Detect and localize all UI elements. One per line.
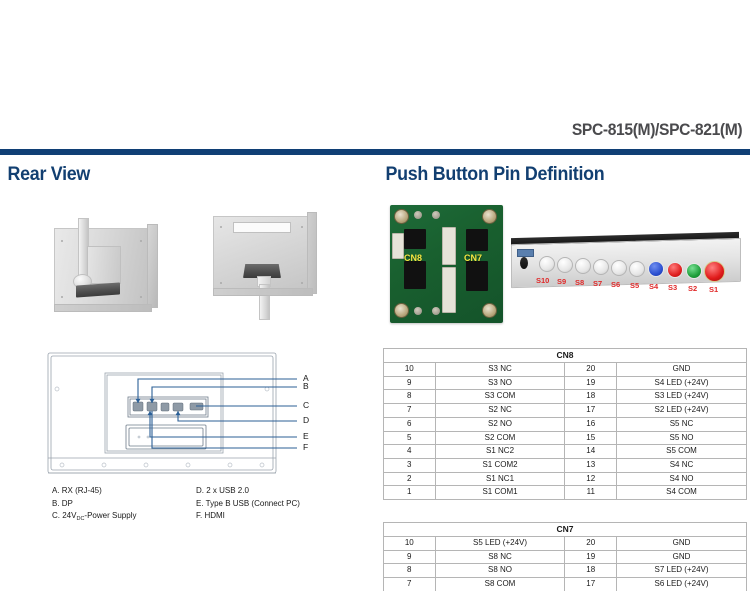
table-header-row: CN8 [384, 349, 747, 363]
pin-signal: S3 LED (+24V) [617, 390, 747, 404]
pin-signal: S5 NC [617, 417, 747, 431]
pin-signal: S6 LED (+24V) [617, 578, 747, 591]
rear-view-photo-1 [48, 218, 166, 320]
pin-signal: GND [617, 363, 747, 377]
pin-number: 14 [565, 445, 617, 459]
push-button-s9 [557, 257, 573, 273]
pin-number: 2 [384, 472, 436, 486]
legend-column-right: D. 2 x USB 2.0 E. Type B USB (Connect PC… [196, 485, 300, 523]
pin-table-cn7-body: 10 S5 LED (+24V) 20 GND 9 S8 NC 19 GND 8… [384, 537, 747, 591]
table-row: 4 S1 NC2 14 S5 COM [384, 445, 747, 459]
legend-item-e: E. Type B USB (Connect PC) [196, 498, 300, 511]
push-button-label-s3: S3 [668, 283, 677, 292]
pin-number: 18 [565, 564, 617, 578]
table-row: 8 S8 NO 18 S7 LED (+24V) [384, 564, 747, 578]
pin-number: 9 [384, 550, 436, 564]
pin-signal: S3 COM [435, 390, 565, 404]
pin-signal: S1 COM1 [435, 486, 565, 500]
table-row: 6 S2 NO 16 S5 NC [384, 417, 747, 431]
pin-signal: S4 LED (+24V) [617, 376, 747, 390]
pin-signal: S2 NC [435, 404, 565, 418]
callout-label-c: C [303, 400, 309, 410]
pin-signal: GND [617, 550, 747, 564]
pin-signal: S7 LED (+24V) [617, 564, 747, 578]
pin-number: 7 [384, 578, 436, 591]
pin-signal: S2 LED (+24V) [617, 404, 747, 418]
pcb-photo: CN8 CN7 [383, 200, 513, 330]
callout-label-d: D [303, 415, 309, 425]
table-row: 8 S3 COM 18 S3 LED (+24V) [384, 390, 747, 404]
push-button-s3 [667, 262, 683, 278]
push-button-s1 [704, 261, 725, 282]
table-row: 10 S5 LED (+24V) 20 GND [384, 537, 747, 551]
legend-item-c-sub: DC [76, 516, 84, 522]
push-button-bar-photo: S10 S9 S8 S7 S6 S5 S4 S3 S2 S1 [503, 233, 748, 313]
callout-label-b: B [303, 381, 309, 391]
pin-number: 6 [384, 417, 436, 431]
push-button-section: Push Button Pin Definition CN8 [378, 155, 750, 591]
pcb-board: CN8 CN7 [390, 205, 503, 323]
push-button-label-s10: S10 [536, 276, 549, 285]
pin-signal: S3 NO [435, 376, 565, 390]
legend-column-left: A. RX (RJ-45) B. DP C. 24VDC-Power Suppl… [52, 485, 136, 524]
pcb-label-cn7: CN7 [464, 253, 482, 263]
push-button-label-s5: S5 [630, 281, 639, 290]
callout-label-e: E [303, 431, 309, 441]
push-button-s6 [611, 260, 627, 276]
legend-item-c-head: C. 24V [52, 511, 76, 520]
table-row: 10 S3 NC 20 GND [384, 363, 747, 377]
table-row: 1 S1 COM1 11 S4 COM [384, 486, 747, 500]
table-row: 2 S1 NC1 12 S4 NO [384, 472, 747, 486]
pcb-label-cn8: CN8 [404, 253, 422, 263]
pin-number: 19 [565, 376, 617, 390]
pin-number: 19 [565, 550, 617, 564]
legend-item-b: B. DP [52, 498, 136, 511]
pin-number: 5 [384, 431, 436, 445]
legend-item-f: F. HDMI [196, 510, 300, 523]
rear-view-section: Rear View [0, 155, 375, 591]
pin-signal: S5 LED (+24V) [435, 537, 565, 551]
section-title-rear-view: Rear View [0, 155, 353, 186]
pin-signal: S1 NC1 [435, 472, 565, 486]
rear-view-photo-2 [205, 210, 325, 330]
pin-signal: S2 NO [435, 417, 565, 431]
callout-label-f: F [303, 442, 308, 452]
pin-table-cn8-body: 10 S3 NC 20 GND 9 S3 NO 19 S4 LED (+24V)… [384, 363, 747, 500]
pin-number: 13 [565, 458, 617, 472]
push-button-label-s2: S2 [688, 284, 697, 293]
pin-number: 16 [565, 417, 617, 431]
push-button-label-s9: S9 [557, 277, 566, 286]
pin-table-cn7: CN7 10 S5 LED (+24V) 20 GND 9 S8 NC 19 G… [383, 522, 747, 591]
pin-signal: S8 NO [435, 564, 565, 578]
table-row: 5 S2 COM 15 S5 NO [384, 431, 747, 445]
pin-signal: S4 COM [617, 486, 747, 500]
pin-number: 10 [384, 363, 436, 377]
push-button-s8 [575, 258, 591, 274]
push-button-s4 [648, 261, 664, 277]
pin-number: 12 [565, 472, 617, 486]
pin-signal: S3 NC [435, 363, 565, 377]
pin-signal: GND [617, 537, 747, 551]
pin-number: 7 [384, 404, 436, 418]
pin-signal: S4 NC [617, 458, 747, 472]
push-button-s10 [539, 256, 555, 272]
section-title-push-button: Push Button Pin Definition [378, 155, 728, 186]
pin-number: 1 [384, 486, 436, 500]
line-drawing-svg [0, 345, 375, 485]
pin-number: 20 [565, 537, 617, 551]
pin-signal: S5 NO [617, 431, 747, 445]
pin-signal: S8 COM [435, 578, 565, 591]
pin-number: 10 [384, 537, 436, 551]
rear-view-photos [0, 200, 375, 340]
push-button-label-s8: S8 [575, 278, 584, 287]
legend-item-d: D. 2 x USB 2.0 [196, 485, 300, 498]
push-button-label-s6: S6 [611, 280, 620, 289]
push-button-s2 [686, 263, 702, 279]
pin-number: 15 [565, 431, 617, 445]
table-title-cn8: CN8 [384, 349, 747, 363]
pin-number: 11 [565, 486, 617, 500]
push-button-label-s4: S4 [649, 282, 658, 291]
page-title: SPC-815(M)/SPC-821(M) [572, 120, 742, 140]
table-header-row: CN7 [384, 523, 747, 537]
pin-number: 17 [565, 404, 617, 418]
pin-number: 8 [384, 390, 436, 404]
pin-signal: S1 COM2 [435, 458, 565, 472]
rear-panel-line-drawing: A B C D E F [0, 345, 375, 485]
table-row: 9 S8 NC 19 GND [384, 550, 747, 564]
pin-number: 8 [384, 564, 436, 578]
push-button-label-s7: S7 [593, 279, 602, 288]
legend-item-c: C. 24VDC-Power Supply [52, 510, 136, 524]
pin-signal: S1 NC2 [435, 445, 565, 459]
push-button-s7 [593, 259, 609, 275]
table-row: 9 S3 NO 19 S4 LED (+24V) [384, 376, 747, 390]
table-title-cn7: CN7 [384, 523, 747, 537]
datasheet-page: SPC-815(M)/SPC-821(M) Rear View [0, 0, 750, 591]
pin-number: 4 [384, 445, 436, 459]
table-row: 7 S8 COM 17 S6 LED (+24V) [384, 578, 747, 591]
pin-signal: S8 NC [435, 550, 565, 564]
table-row: 7 S2 NC 17 S2 LED (+24V) [384, 404, 747, 418]
pin-signal: S4 NO [617, 472, 747, 486]
selector-switch-knob [520, 257, 528, 269]
pin-number: 3 [384, 458, 436, 472]
pin-signal: S5 COM [617, 445, 747, 459]
legend-item-a: A. RX (RJ-45) [52, 485, 136, 498]
pin-table-cn8: CN8 10 S3 NC 20 GND 9 S3 NO 19 S4 LED (+… [383, 348, 747, 500]
push-button-label-s1: S1 [709, 285, 718, 294]
legend-item-c-tail: -Power Supply [84, 511, 136, 520]
pin-signal: S2 COM [435, 431, 565, 445]
button-bar-nameplate [517, 249, 534, 257]
pin-number: 18 [565, 390, 617, 404]
push-button-s5 [629, 261, 645, 277]
pin-number: 20 [565, 363, 617, 377]
pin-number: 17 [565, 578, 617, 591]
pin-number: 9 [384, 376, 436, 390]
table-row: 3 S1 COM2 13 S4 NC [384, 458, 747, 472]
